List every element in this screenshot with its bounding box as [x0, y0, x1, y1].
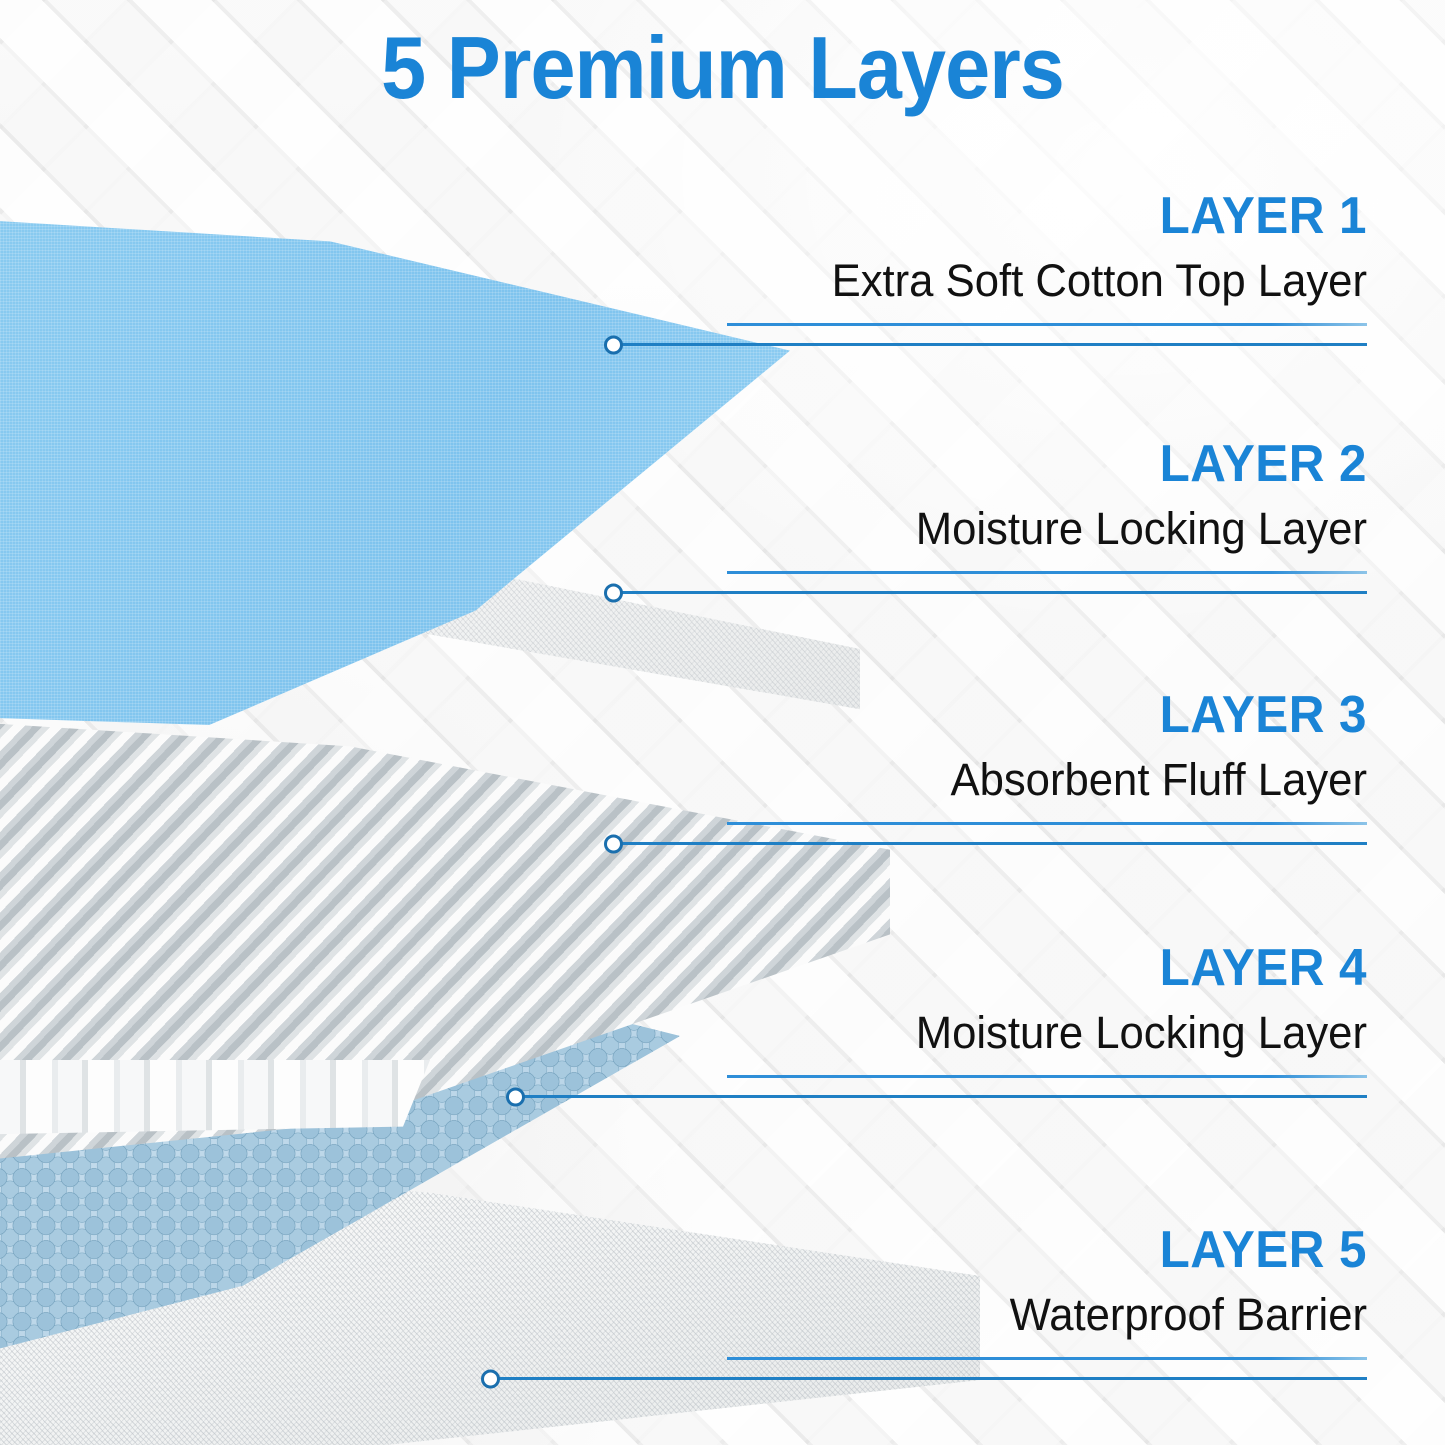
layer-1-underline	[727, 323, 1367, 326]
leader-line-layer-2	[613, 591, 1367, 594]
layer-5-description: Waterproof Barrier	[746, 1291, 1367, 1340]
callout-layer-5: LAYER 5 Waterproof Barrier	[727, 1224, 1367, 1360]
leader-dot-icon	[604, 335, 623, 354]
leader-line-layer-1	[613, 343, 1367, 346]
layer-3-underline	[727, 822, 1367, 825]
layer-3-description: Absorbent Fluff Layer	[746, 756, 1367, 805]
callout-layer-2: LAYER 2 Moisture Locking Layer	[727, 438, 1367, 574]
page-title: 5 Premium Layers	[58, 22, 1387, 114]
infographic-canvas: 5 Premium Layers LAYER 1 Extra Soft Cott…	[0, 0, 1445, 1445]
layer-4-number: LAYER 4	[759, 942, 1367, 995]
layer-3-number: LAYER 3	[759, 689, 1367, 742]
leader-dot-icon	[481, 1369, 500, 1388]
leader-dot-icon	[604, 583, 623, 602]
layer-1-description: Extra Soft Cotton Top Layer	[746, 257, 1367, 306]
layer-5-underline	[727, 1357, 1367, 1360]
layer-2-description: Moisture Locking Layer	[746, 505, 1367, 554]
layer-2-underline	[727, 571, 1367, 574]
layer-5-number: LAYER 5	[759, 1224, 1367, 1277]
leader-line-layer-3	[613, 842, 1367, 845]
callout-layer-4: LAYER 4 Moisture Locking Layer	[727, 942, 1367, 1078]
callout-layer-3: LAYER 3 Absorbent Fluff Layer	[727, 689, 1367, 825]
leader-line-layer-4	[515, 1095, 1367, 1098]
callout-layer-1: LAYER 1 Extra Soft Cotton Top Layer	[727, 190, 1367, 326]
leader-dot-icon	[604, 834, 623, 853]
leader-dot-icon	[506, 1087, 525, 1106]
leader-line-layer-5	[490, 1377, 1367, 1380]
layer-4-description: Moisture Locking Layer	[746, 1009, 1367, 1058]
layer-1-number: LAYER 1	[759, 190, 1367, 243]
layer-2-number: LAYER 2	[759, 438, 1367, 491]
layer-4-underline	[727, 1075, 1367, 1078]
